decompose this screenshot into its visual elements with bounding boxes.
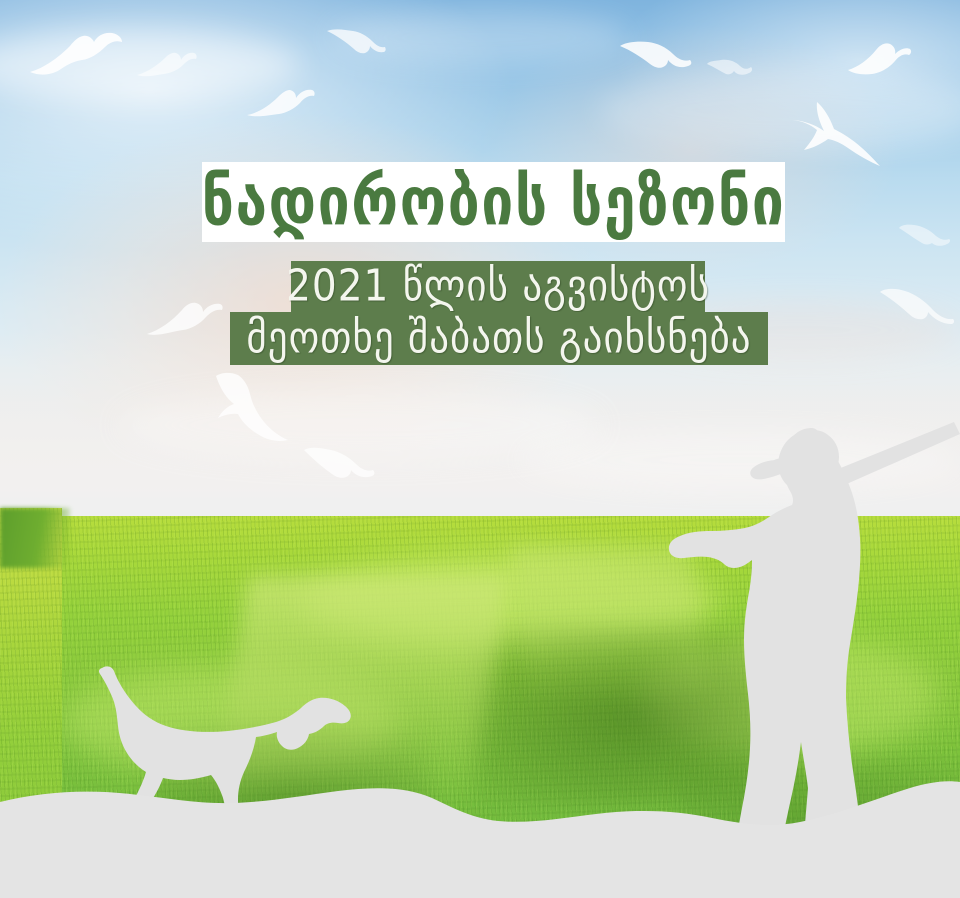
poster-canvas: ნადირობის სეზონი 2021 წლის აგვისტოს მეოთ… (0, 0, 960, 898)
bird-icon (206, 374, 290, 444)
cloud-streak (600, 70, 960, 150)
bird-icon (302, 444, 376, 490)
bird-icon (898, 222, 954, 252)
bird-icon (706, 56, 754, 80)
bird-icon (846, 36, 912, 80)
foreground-ground (0, 758, 960, 898)
bird-icon (326, 22, 386, 58)
subtitle-line2: მეოთხე შაბათს გაიხსნება (246, 317, 751, 361)
bird-icon (136, 48, 198, 82)
bird-icon (618, 36, 694, 80)
headline-band: ნადირობის სეზონი (202, 162, 785, 242)
bird-icon (146, 296, 224, 340)
bird-icon (786, 100, 882, 168)
field-ridge (0, 508, 70, 568)
subtitle-line1: 2021 წლის აგვისტოს (286, 265, 710, 309)
bird-icon (878, 286, 956, 338)
bird-icon (246, 84, 316, 124)
subtitle-band-line2: მეოთხე შაბათს გაიხსნება (230, 312, 768, 365)
page-title: ნადირობის სეზონი (202, 168, 786, 235)
subtitle-band-line1: 2021 წლის აგვისტოს (291, 261, 705, 312)
bird-icon (28, 28, 124, 80)
